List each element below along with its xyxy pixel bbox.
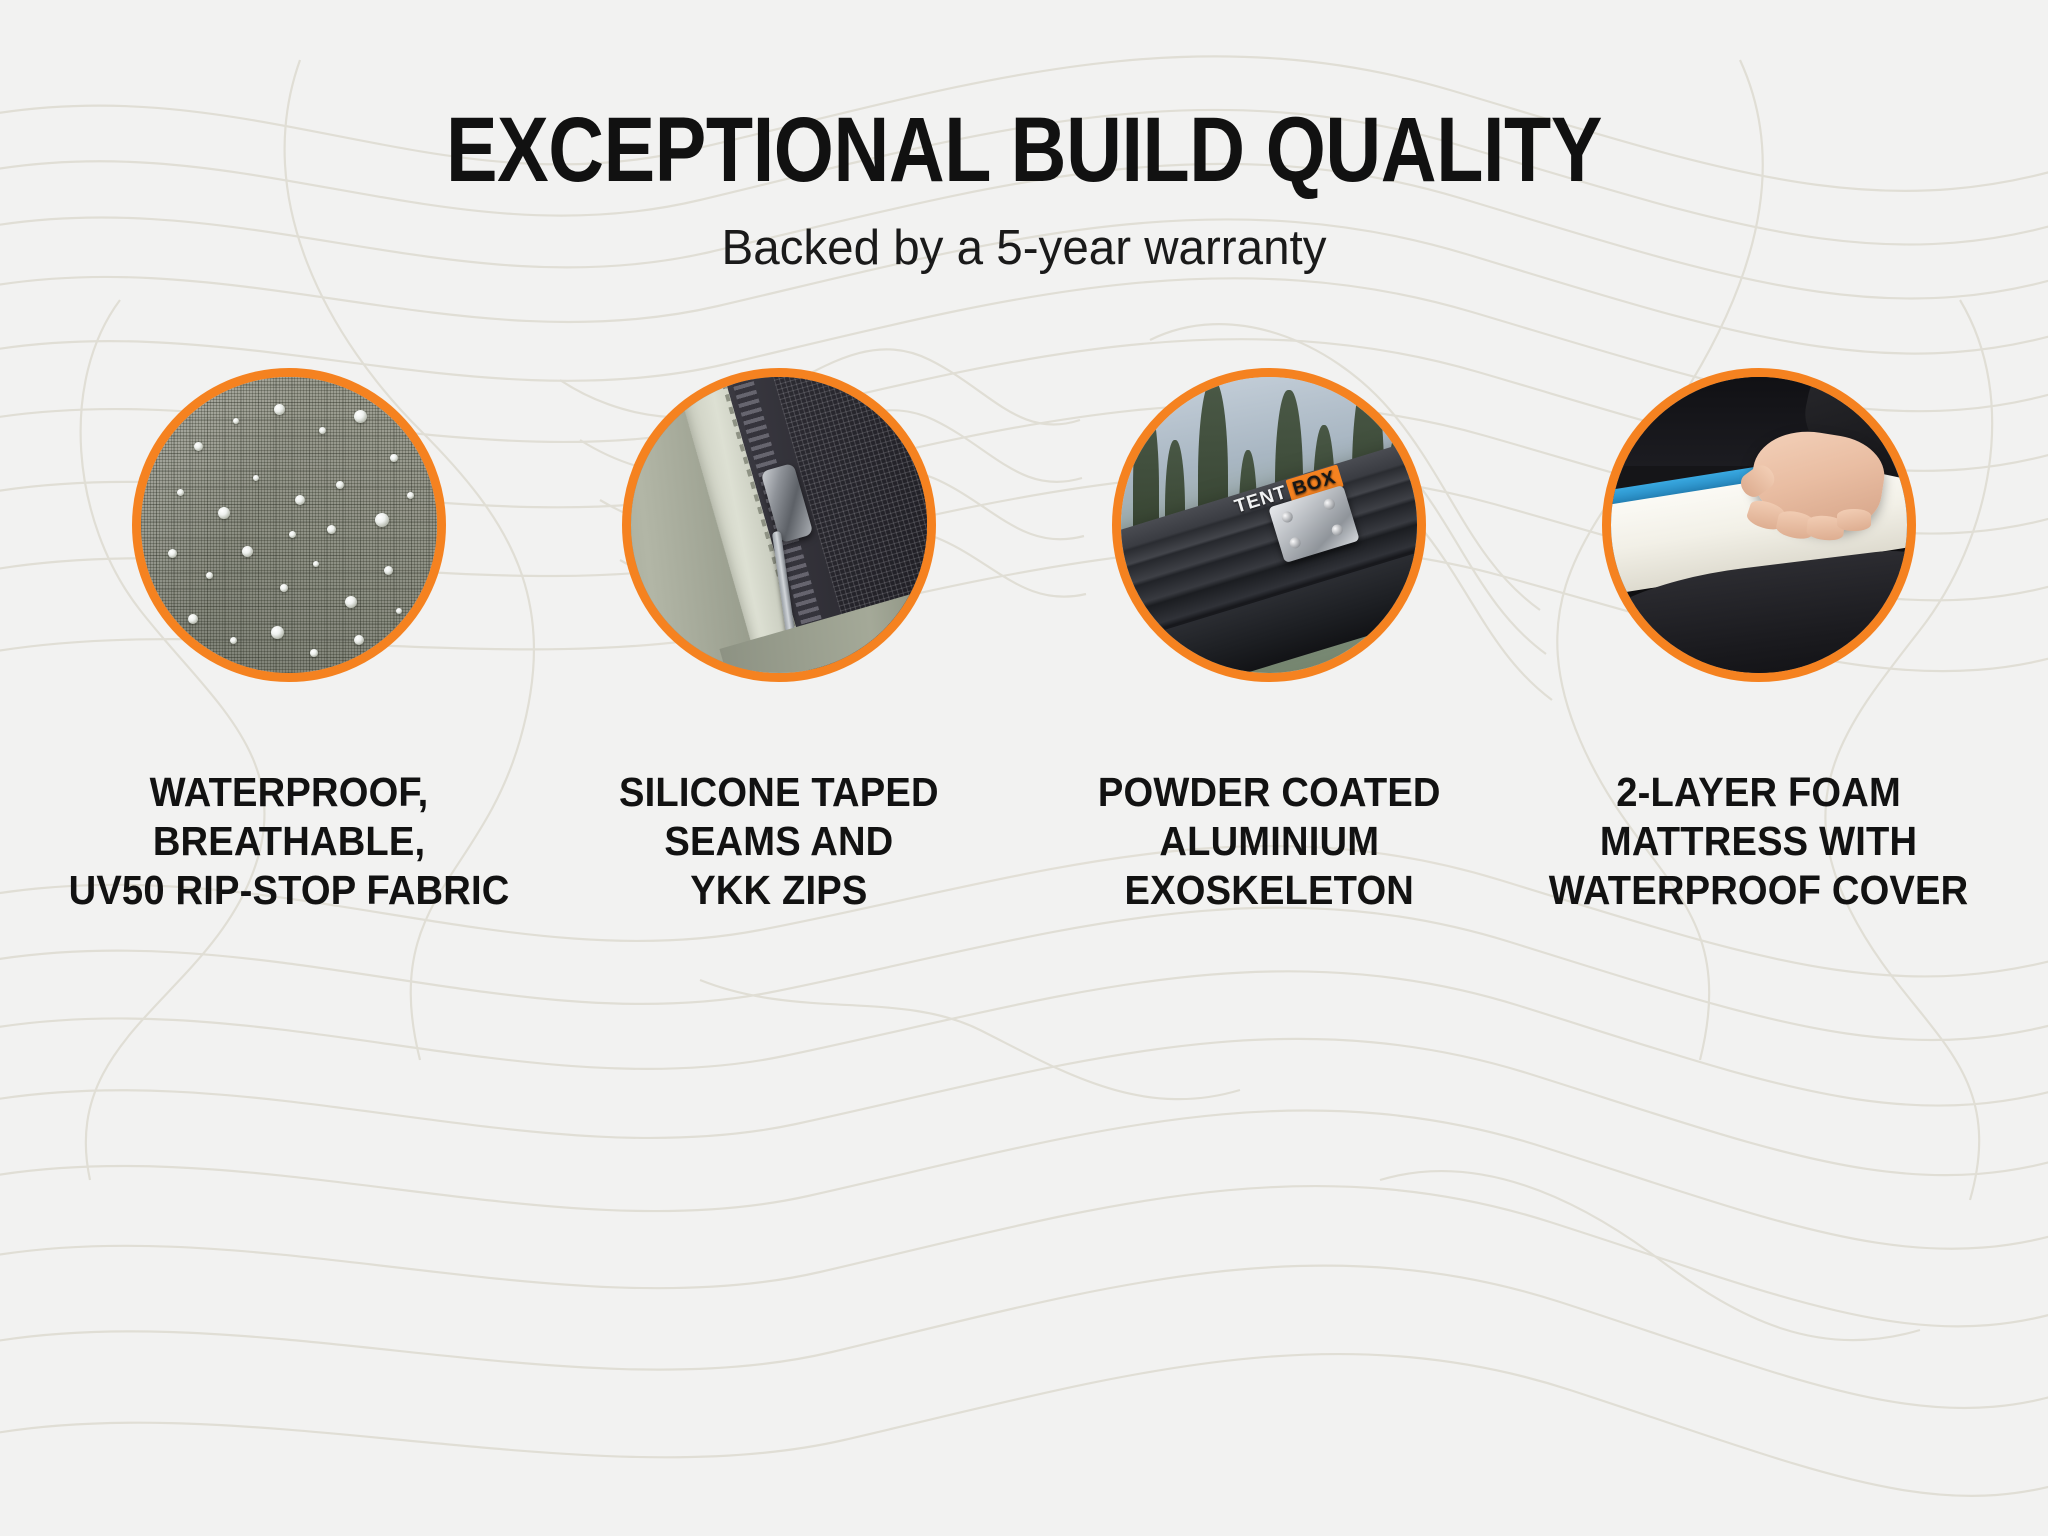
feature-caption-foam-mattress: 2-LAYER FOAM MATTRESS WITH WATERPROOF CO… bbox=[1549, 768, 1969, 914]
page-title: EXCEPTIONAL BUILD QUALITY bbox=[164, 104, 1884, 196]
caption-line: YKK ZIPS bbox=[619, 866, 939, 915]
hand-pressing-mattress bbox=[1741, 389, 1907, 561]
page-subtitle: Backed by a 5-year warranty bbox=[31, 222, 2018, 276]
feature-row: WATERPROOF, BREATHABLE, UV50 RIP-STOP FA… bbox=[0, 368, 2048, 914]
feature-card-aluminium-exoskeleton: TENTBOX POWDER COATED ALUMINIUM EXOSKELE… bbox=[1074, 368, 1464, 914]
feature-caption-taped-seams-zips: SILICONE TAPED SEAMS AND YKK ZIPS bbox=[619, 768, 939, 914]
caption-line: ALUMINIUM bbox=[1098, 817, 1441, 866]
feature-caption-aluminium-exoskeleton: POWDER COATED ALUMINIUM EXOSKELETON bbox=[1098, 768, 1441, 914]
caption-line: WATERPROOF, bbox=[69, 768, 510, 817]
feature-card-foam-mattress: 2-LAYER FOAM MATTRESS WITH WATERPROOF CO… bbox=[1564, 368, 1954, 914]
caption-line: 2-LAYER FOAM bbox=[1549, 768, 1969, 817]
feature-image-waterproof-fabric bbox=[132, 368, 446, 682]
header: EXCEPTIONAL BUILD QUALITY Backed by a 5-… bbox=[0, 0, 2048, 276]
exoskeleton-photo: TENTBOX bbox=[1121, 377, 1417, 673]
feature-caption-waterproof-fabric: WATERPROOF, BREATHABLE, UV50 RIP-STOP FA… bbox=[69, 768, 510, 914]
feature-card-waterproof-fabric: WATERPROOF, BREATHABLE, UV50 RIP-STOP FA… bbox=[94, 368, 484, 914]
zipper-photo bbox=[631, 377, 927, 673]
fabric-photo bbox=[141, 377, 437, 673]
feature-card-taped-seams-zips: SILICONE TAPED SEAMS AND YKK ZIPS bbox=[584, 368, 974, 914]
caption-line: SEAMS AND bbox=[619, 817, 939, 866]
mattress-photo bbox=[1611, 377, 1907, 673]
caption-line: WATERPROOF COVER bbox=[1549, 866, 1969, 915]
caption-line: BREATHABLE, bbox=[69, 817, 510, 866]
feature-image-aluminium-exoskeleton: TENTBOX bbox=[1112, 368, 1426, 682]
caption-line: SILICONE TAPED bbox=[619, 768, 939, 817]
feature-image-taped-seams-zips bbox=[622, 368, 936, 682]
feature-image-foam-mattress bbox=[1602, 368, 1916, 682]
water-droplets bbox=[141, 377, 437, 673]
caption-line: POWDER COATED bbox=[1098, 768, 1441, 817]
caption-line: MATTRESS WITH bbox=[1549, 817, 1969, 866]
caption-line: EXOSKELETON bbox=[1098, 866, 1441, 915]
caption-line: UV50 RIP-STOP FABRIC bbox=[69, 866, 510, 915]
